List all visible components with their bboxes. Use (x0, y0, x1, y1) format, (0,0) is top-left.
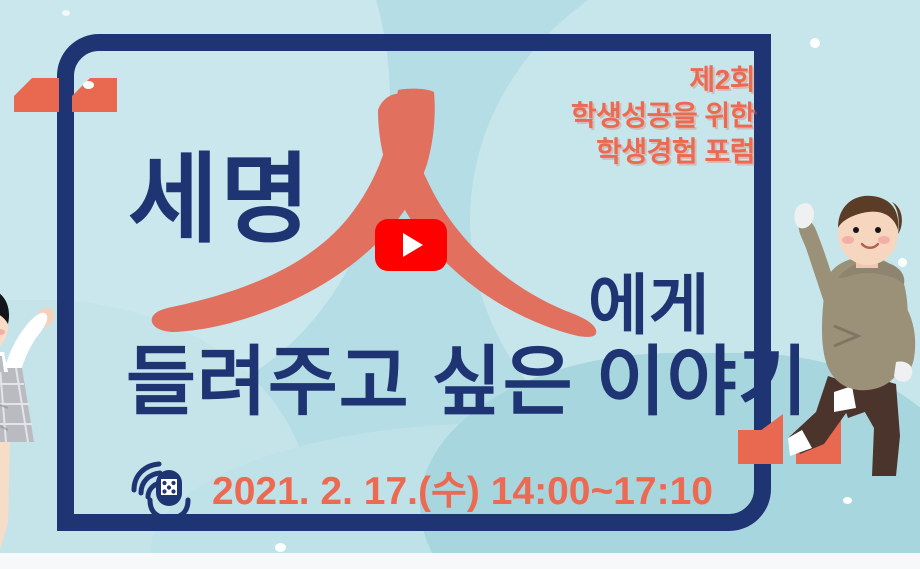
student-female-illustration (0, 272, 84, 553)
open-quote-mark (14, 78, 117, 128)
event-datetime-text: 2021. 2. 17.(수) 14:00~17:10 (212, 472, 713, 511)
youtube-play-button[interactable] (375, 219, 447, 271)
play-triangle-icon (403, 233, 423, 257)
confetti-dot (898, 258, 907, 267)
event-subtitle: 제2회 학생성공을 위한 학생경험 포럼 (571, 62, 755, 169)
student-male-illustration (772, 186, 920, 476)
quote-glyph-icon (14, 78, 59, 128)
event-datetime-row: 2021. 2. 17.(수) 14:00~17:10 (128, 460, 713, 522)
podcast-microphone-icon (128, 460, 194, 522)
confetti-dot (810, 38, 820, 48)
event-subtitle-line-1: 제2회 (571, 62, 755, 98)
video-thumbnail-stage: 세명 에게 들려주고 싶은 이야기 제2회 학생성공을 위한 학생경험 포럼 (0, 0, 920, 569)
video-poster[interactable]: 세명 에게 들려주고 싶은 이야기 제2회 학생성공을 위한 학생경험 포럼 (0, 0, 920, 553)
confetti-dot (275, 543, 286, 552)
headline-line-1: 세명 (128, 150, 312, 248)
event-subtitle-line-2: 학생성공을 위한 (571, 98, 755, 134)
confetti-dot (83, 81, 94, 89)
quote-glyph-icon (72, 78, 117, 128)
confetti-dot (62, 10, 70, 16)
confetti-dot (843, 497, 852, 504)
headline-line-2: 에게 (588, 272, 709, 338)
event-subtitle-line-3: 학생경험 포럼 (571, 134, 755, 170)
headline-line-3: 들려주고 싶은 이야기 (126, 345, 809, 421)
page-bottom-strip (0, 553, 920, 569)
